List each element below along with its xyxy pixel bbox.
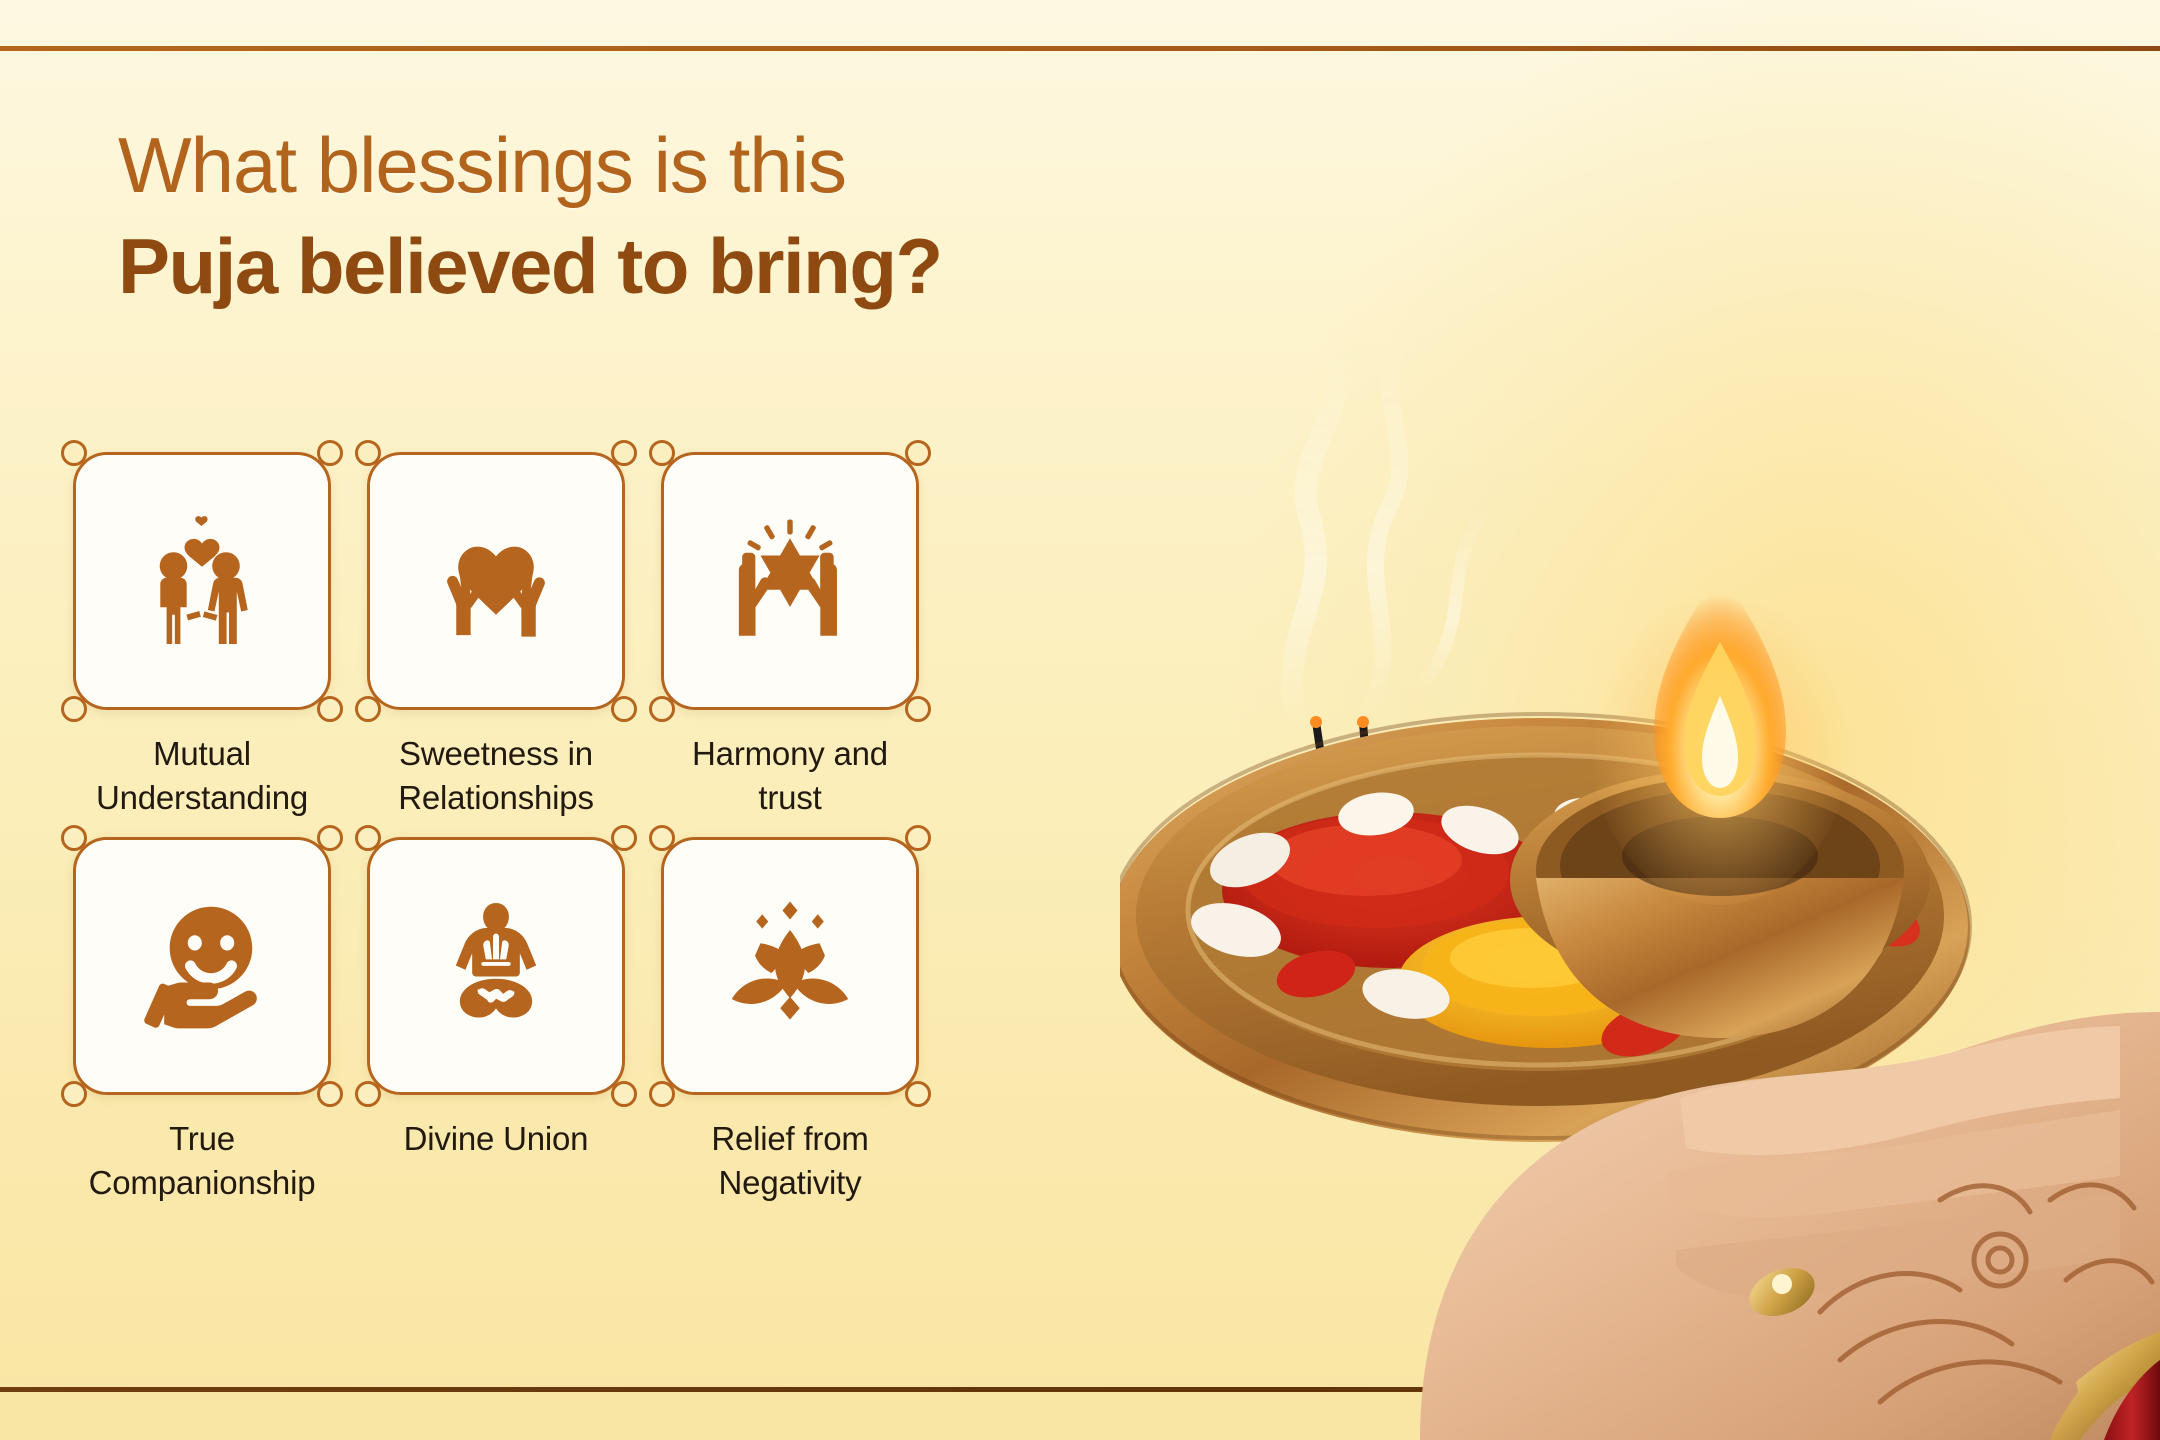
benefit-item-mutual-understanding[interactable]: MutualUnderstanding (70, 452, 334, 819)
benefits-grid: MutualUnderstanding Sweetness inRelation… (70, 452, 922, 1204)
puja-thali-photo (1120, 270, 2160, 1440)
lotus-flower-icon (715, 891, 865, 1041)
benefit-label: Divine Union (404, 1117, 589, 1161)
icon-card (661, 452, 919, 710)
benefit-item-harmony-trust[interactable]: Harmony andtrust (658, 452, 922, 819)
benefit-label: Sweetness inRelationships (398, 732, 594, 819)
benefit-label: Relief fromNegativity (711, 1117, 868, 1204)
benefit-item-true-companionship[interactable]: TrueCompanionship (70, 837, 334, 1204)
meditating-namaste-figure-icon (421, 891, 571, 1041)
benefit-label: TrueCompanionship (89, 1117, 316, 1204)
benefit-label: MutualUnderstanding (96, 732, 308, 819)
icon-card (661, 837, 919, 1095)
benefit-label: Harmony andtrust (692, 732, 888, 819)
hands-holding-heart-icon (421, 506, 571, 656)
poster-canvas: What blessings is this Puja believed to … (0, 0, 2160, 1440)
icon-card (73, 837, 331, 1095)
hand-holding-smiley-icon (127, 891, 277, 1041)
couple-holding-hands-hearts-icon (127, 506, 277, 656)
benefit-item-sweetness-relationships[interactable]: Sweetness inRelationships (364, 452, 628, 819)
top-divider-rule (0, 46, 2160, 51)
icon-card (367, 837, 625, 1095)
hand-holding-brass-puja-thali (1120, 270, 2160, 1440)
incense-smoke (1292, 340, 1485, 730)
title-line-1: What blessings is this (118, 126, 942, 204)
benefit-item-divine-union[interactable]: Divine Union (364, 837, 628, 1204)
benefit-item-relief-negativity[interactable]: Relief fromNegativity (658, 837, 922, 1204)
title-line-2: Puja believed to bring? (118, 226, 942, 308)
hands-holding-star-icon (715, 506, 865, 656)
icon-card (367, 452, 625, 710)
diya-flame (1590, 570, 1850, 905)
page-title: What blessings is this Puja believed to … (118, 126, 942, 308)
icon-card (73, 452, 331, 710)
